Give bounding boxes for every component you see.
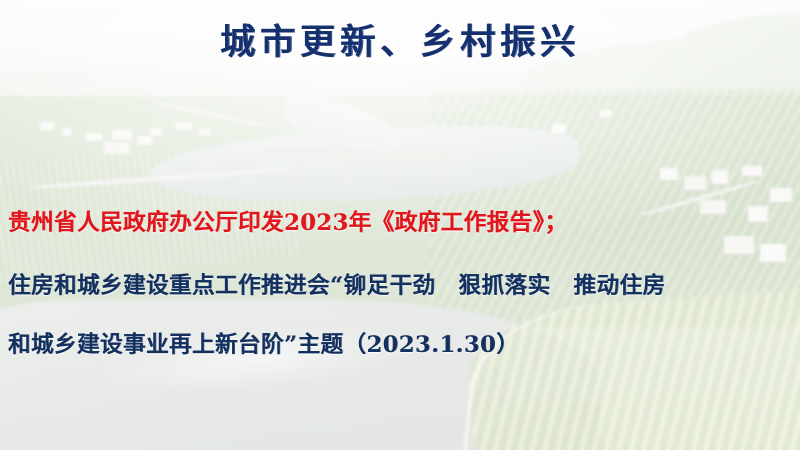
text-layer: 城市更新、乡村振兴 贵州省人民政府办公厅印发2023年《政府工作报告》； 住房和…: [0, 0, 800, 450]
slide-title: 城市更新、乡村振兴: [0, 14, 800, 65]
body-line-3: 和城乡建设事业再上新台阶”主题（2023.1.30）: [8, 327, 798, 359]
presentation-slide: 城市更新、乡村振兴 贵州省人民政府办公厅印发2023年《政府工作报告》； 住房和…: [0, 0, 800, 450]
body-line-1: 贵州省人民政府办公厅印发2023年《政府工作报告》；: [8, 205, 798, 237]
body-line-2: 住房和城乡建设重点工作推进会“铆足干劲 狠抓落实 推动住房: [8, 268, 798, 300]
